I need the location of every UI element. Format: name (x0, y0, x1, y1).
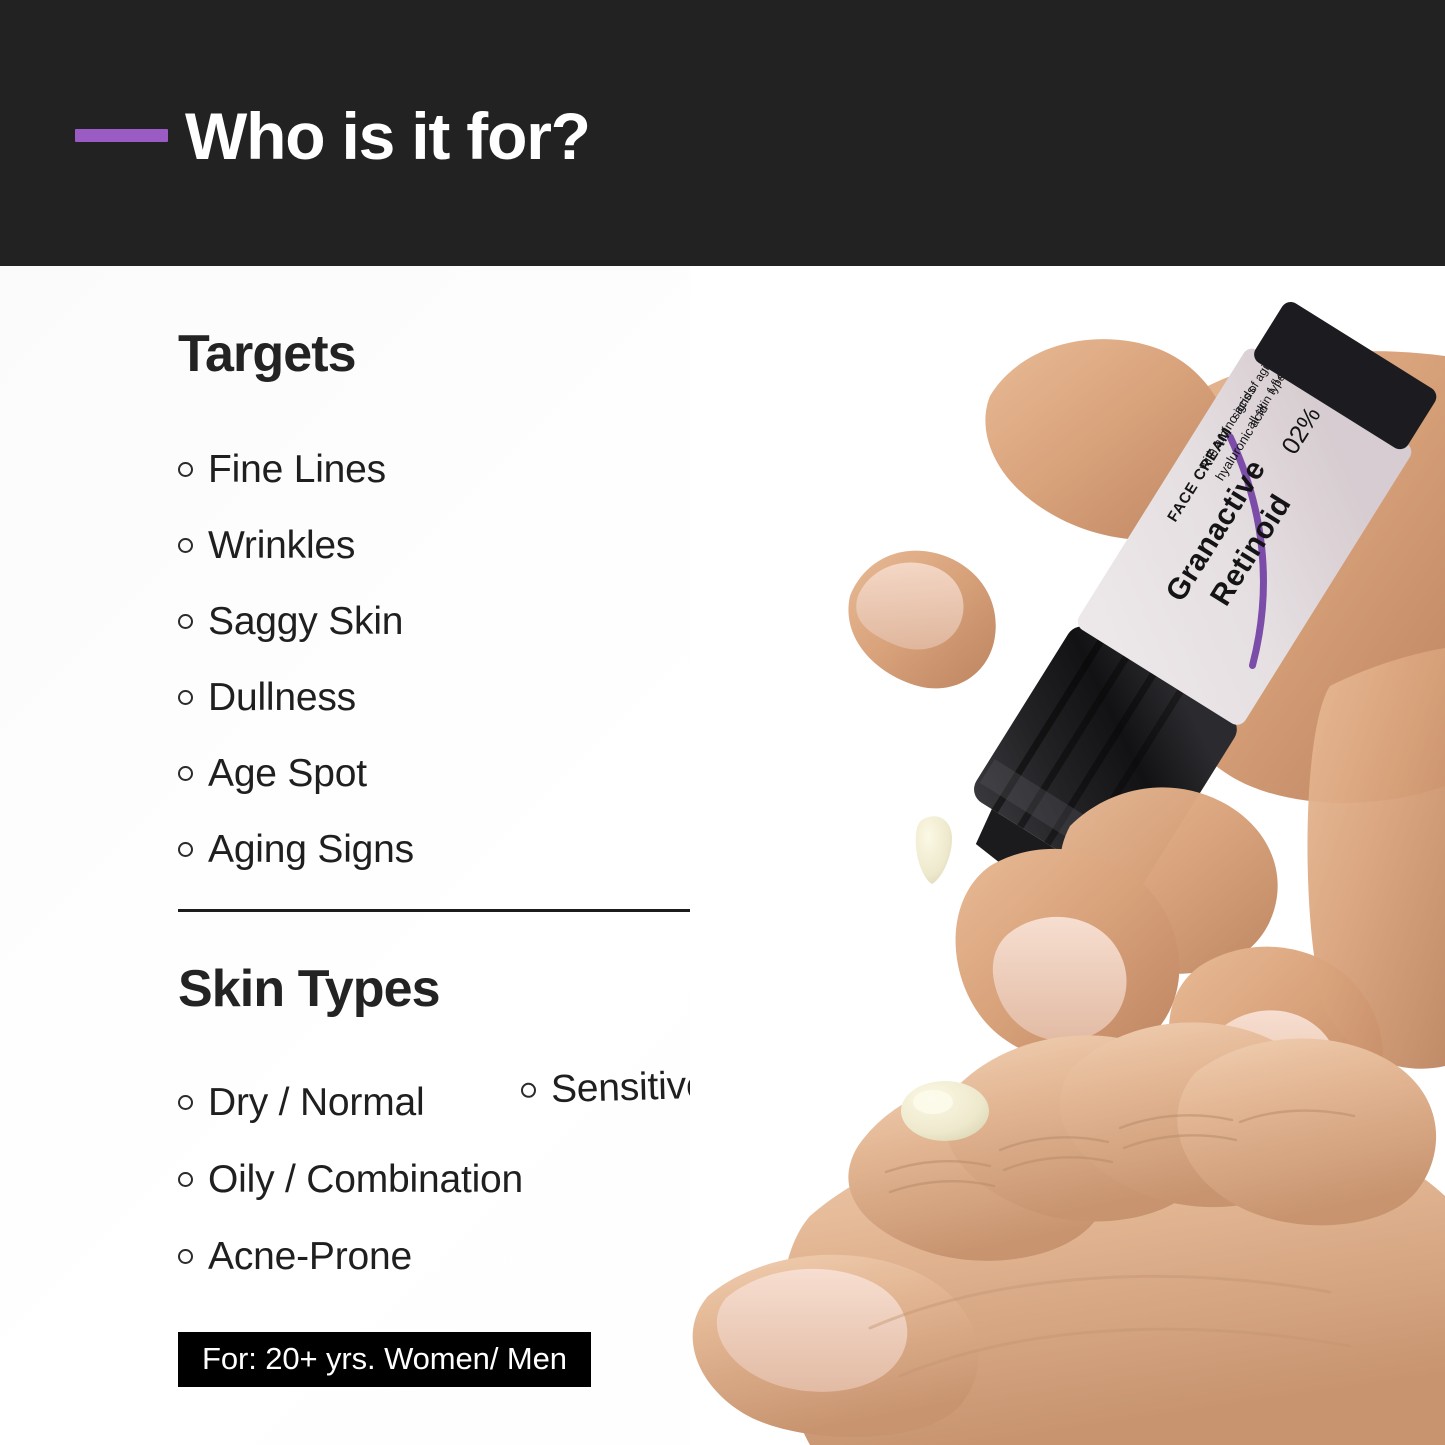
list-item-label: Dry / Normal (208, 1083, 424, 1122)
header-accent-bar (75, 129, 168, 142)
circle-bullet-icon (178, 690, 193, 705)
list-item-label: Aging Signs (208, 830, 414, 869)
list-item: Acne-Prone (178, 1218, 523, 1295)
list-item: Dry / Normal (178, 1064, 523, 1141)
list-item: Oily / Combination (178, 1141, 523, 1218)
list-item: Fine Lines (178, 431, 414, 507)
skin-types-list: Dry / Normal Oily / Combination Acne-Pro… (178, 1064, 523, 1295)
header-bar: Who is it for? (0, 0, 1445, 266)
circle-bullet-icon (178, 614, 193, 629)
circle-bullet-icon (178, 1249, 193, 1264)
list-item: Wrinkles (178, 507, 414, 583)
list-item-label: Fine Lines (208, 450, 386, 489)
content-area: Targets Fine Lines Wrinkles Saggy Skin D… (0, 266, 1445, 1445)
list-item-label: Dullness (208, 678, 356, 717)
list-item-label: Acne-Prone (208, 1237, 412, 1276)
circle-bullet-icon (178, 1095, 193, 1110)
circle-bullet-icon (178, 842, 193, 857)
list-item-label: Sensitive (550, 1066, 707, 1109)
targets-heading: Targets (178, 328, 356, 380)
product-photo: Granactive Retinoid 02% FACE CREAM with … (690, 266, 1445, 1445)
audience-badge: For: 20+ yrs. Women/ Men (178, 1332, 591, 1387)
list-item-sensitive: Sensitive (520, 1066, 707, 1110)
list-item: Age Spot (178, 735, 414, 811)
list-item-label: Wrinkles (208, 526, 355, 565)
circle-bullet-icon (178, 462, 193, 477)
circle-bullet-icon (178, 1172, 193, 1187)
circle-bullet-icon (521, 1083, 536, 1098)
list-item: Aging Signs (178, 811, 414, 887)
list-item-label: Age Spot (208, 754, 367, 793)
list-item-label: Saggy Skin (208, 602, 403, 641)
infographic-page: Who is it for? Targets Fine Lines Wrinkl… (0, 0, 1445, 1445)
skin-types-heading: Skin Types (178, 963, 440, 1015)
list-item-label: Oily / Combination (208, 1160, 523, 1199)
circle-bullet-icon (178, 538, 193, 553)
list-item: Saggy Skin (178, 583, 414, 659)
targets-list: Fine Lines Wrinkles Saggy Skin Dullness … (178, 431, 414, 887)
list-item: Dullness (178, 659, 414, 735)
circle-bullet-icon (178, 766, 193, 781)
page-title: Who is it for? (185, 103, 590, 169)
